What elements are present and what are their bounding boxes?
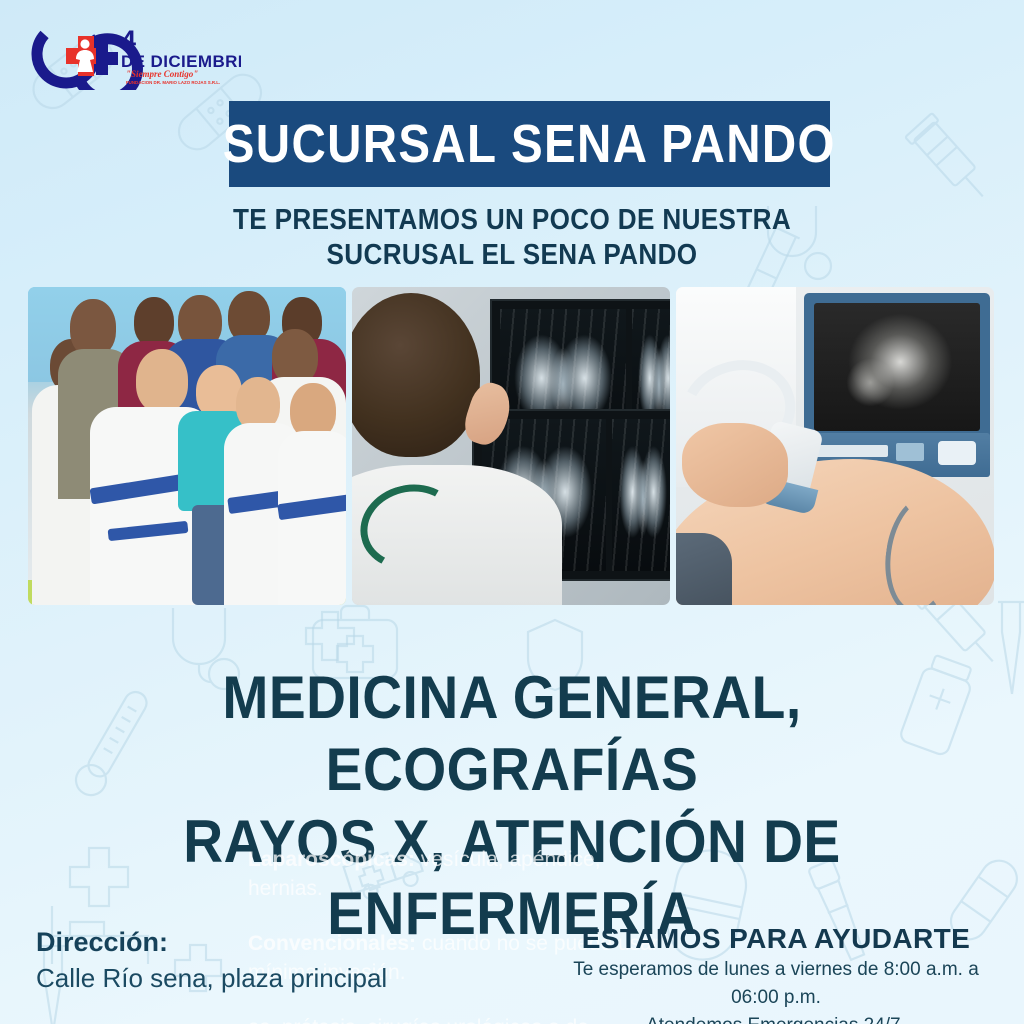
logo-graphic: 4 DE DICIEMBRE "Siempre Contigo" FUNDACI… — [26, 18, 241, 90]
doctor-head — [352, 293, 480, 457]
svg-text:"Siempre Contigo": "Siempre Contigo" — [126, 69, 198, 79]
photo-strip — [28, 287, 996, 605]
banner-title: SUCURSAL SENA PANDO — [223, 113, 836, 175]
ghost-item-3-body: as, prótesis, cirugías urológicas o de c… — [248, 1016, 589, 1024]
console-key — [938, 441, 976, 465]
console-key — [814, 445, 888, 457]
clinic-logo[interactable]: 4 DE DICIEMBRE "Siempre Contigo" FUNDACI… — [26, 18, 241, 90]
staff-group-photo — [28, 287, 346, 605]
sonographer-hand — [682, 423, 788, 507]
subtitle-line-1: TE PRESENTAMOS UN POCO DE NUESTRA — [51, 203, 973, 238]
address-label: Dirección: — [36, 925, 387, 959]
help-title: ESTAMOS PARA AYUDARTE — [556, 922, 996, 956]
ghost-item-1: Laparoscópicas: vesícula, apéndice, hern… — [248, 845, 668, 903]
svg-text:4: 4 — [121, 25, 136, 55]
console-key — [896, 443, 924, 461]
title-banner: SUCURSAL SENA PANDO — [229, 101, 830, 187]
ultrasound-photo — [676, 287, 994, 605]
ghost-item-1-label: Laparoscópicas: — [248, 848, 415, 871]
help-hours-weekday: Te esperamos de lunes a viernes de 8:00 … — [556, 956, 996, 1012]
address-block: Dirección: Calle Río sena, plaza princip… — [36, 925, 387, 997]
photo1-person-head — [136, 349, 188, 413]
svg-text:FUNDACION DR. MARIO LAZO ROJAS: FUNDACION DR. MARIO LAZO ROJAS S.R.L. — [126, 80, 220, 85]
subtitle-line-2: SUCRUSAL EL SENA PANDO — [51, 238, 973, 273]
photo1-person-head — [134, 297, 174, 347]
hours-block: ESTAMOS PARA AYUDARTE Te esperamos de lu… — [556, 922, 996, 1024]
patient-jeans — [676, 533, 732, 605]
address-value: Calle Río sena, plaza principal — [36, 959, 387, 997]
headline-line-1: MEDICINA GENERAL, ECOGRAFÍAS — [41, 662, 983, 806]
xray-rib-lines — [612, 419, 670, 571]
medical-cross-icon — [300, 606, 360, 666]
fetal-ultrasound-screen — [814, 303, 980, 431]
subtitle-block: TE PRESENTAMOS UN POCO DE NUESTRA SUCRUS… — [0, 203, 1024, 273]
help-emergency: Atendemos Emergencias 24/7. — [556, 1012, 996, 1024]
spine-xray-image — [612, 419, 670, 571]
promotional-poster: 4 DE DICIEMBRE "Siempre Contigo" FUNDACI… — [0, 0, 1024, 1024]
xray-review-photo — [352, 287, 670, 605]
